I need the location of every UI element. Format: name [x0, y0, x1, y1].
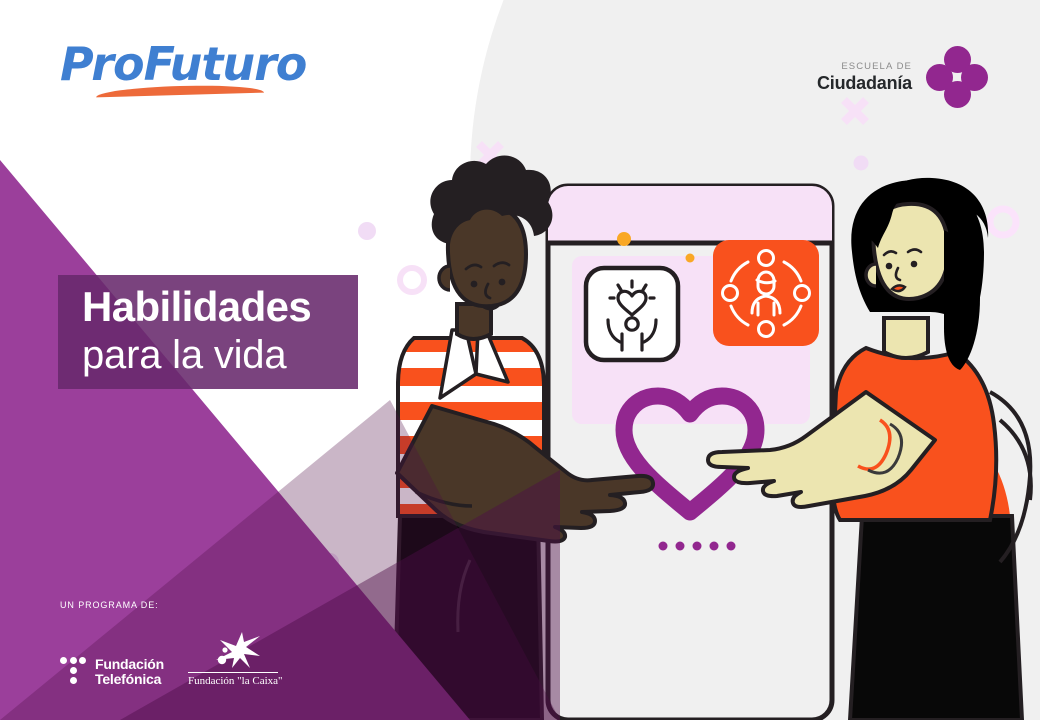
escuela-ciudadania-logo[interactable]: ESCUELA DE Ciudadanía — [817, 46, 988, 108]
page-title: Habilidades para la vida — [58, 275, 358, 389]
poster-canvas: ProFuturo ESCUELA DE Ciudadanía Habilida… — [0, 0, 1040, 720]
amber-dot — [686, 254, 695, 263]
programa-label: UN PROGRAMA DE: — [60, 600, 278, 610]
caixa-star-icon — [188, 630, 278, 670]
profuturo-logo-text: ProFuturo — [60, 38, 290, 90]
telefonica-dots-icon — [60, 657, 86, 687]
escuela-sublabel: ESCUELA DE — [817, 62, 912, 72]
telefonica-name-line2: Telefónica — [95, 672, 164, 687]
four-circle-flower-icon — [926, 46, 988, 108]
caixa-name: Fundación "la Caixa" — [188, 675, 278, 687]
fundacion-la-caixa-logo[interactable]: Fundación "la Caixa" — [188, 630, 278, 687]
card-person-network — [713, 240, 819, 346]
fundacion-telefonica-logo[interactable]: Fundación Telefónica — [60, 657, 164, 687]
profuturo-logo[interactable]: ProFuturo — [60, 38, 290, 100]
card-person-holding-heart — [586, 268, 678, 360]
escuela-ciudadania-text: ESCUELA DE Ciudadanía — [817, 62, 912, 93]
page-title-line2: para la vida — [82, 331, 344, 379]
caixa-divider — [188, 672, 278, 673]
page-title-line1: Habilidades — [82, 283, 344, 331]
programa-block: UN PROGRAMA DE: Fundación Telefónica — [60, 600, 278, 687]
telefonica-name-line1: Fundación — [95, 657, 164, 672]
amber-dot — [617, 232, 631, 246]
escuela-mainlabel: Ciudadanía — [817, 74, 912, 92]
sponsor-logos: Fundación Telefónica Fundación "la Caixa… — [60, 630, 278, 687]
